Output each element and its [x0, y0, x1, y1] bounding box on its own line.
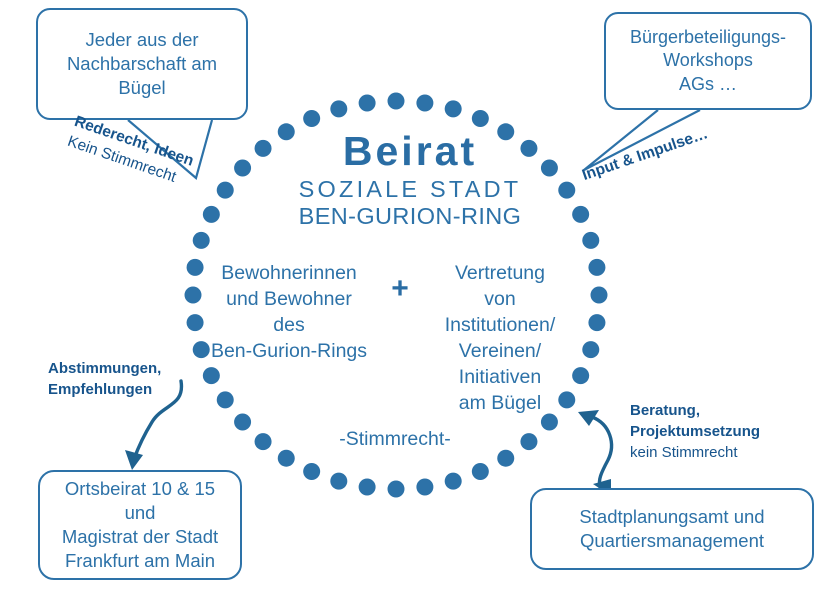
plus-icon: + [382, 274, 418, 304]
members-residents-column: Bewohnerinnen und Bewohner des Ben-Gurio… [196, 261, 382, 365]
annotation-abstimmungen-bold: Abstimmungen, Empfehlungen [48, 358, 161, 400]
node-stadtplanungsamt-quartiersmanagement-label: Stadtplanungsamt und Quartiersmanagement [532, 505, 812, 553]
arrow-abstimmungen-head [125, 450, 143, 470]
speech-bubble-neighbourhood-label: Jeder aus der Nachbarschaft am Bügel [38, 28, 246, 100]
annotation-beratung-bold: Beratung, Projektumsetzung [630, 400, 760, 442]
members-institutions-column: Vertretung von Institutionen/ Vereinen/ … [418, 261, 582, 417]
arrow-beratung [592, 417, 611, 487]
speech-bubble-workshops-label: Bürgerbeteiligungs- Workshops AGs … [606, 26, 810, 96]
diagram-canvas: Beirat SOZIALE STADT BEN-GURION-RING Bew… [0, 0, 820, 600]
node-ortsbeirat-magistrat[interactable]: Ortsbeirat 10 & 15 und Magistrat der Sta… [38, 470, 242, 580]
subtitle-secondary: BEN-GURION-RING [0, 203, 820, 230]
subtitle-primary: SOZIALE STADT [0, 176, 820, 203]
speech-bubble-workshops[interactable]: Bürgerbeteiligungs- Workshops AGs … [604, 12, 812, 110]
speech-bubble-neighbourhood[interactable]: Jeder aus der Nachbarschaft am Bügel [36, 8, 248, 120]
annotation-abstimmungen: Abstimmungen, Empfehlungen [48, 358, 161, 400]
node-stadtplanungsamt-quartiersmanagement[interactable]: Stadtplanungsamt und Quartiersmanagement [530, 488, 814, 570]
node-ortsbeirat-magistrat-label: Ortsbeirat 10 & 15 und Magistrat der Sta… [40, 477, 240, 573]
annotation-beratung-regular: kein Stimmrecht [630, 442, 760, 463]
voting-rights-note: -Stimmrecht- [265, 428, 525, 451]
annotation-beratung: Beratung, Projektumsetzung kein Stimmrec… [630, 400, 760, 463]
